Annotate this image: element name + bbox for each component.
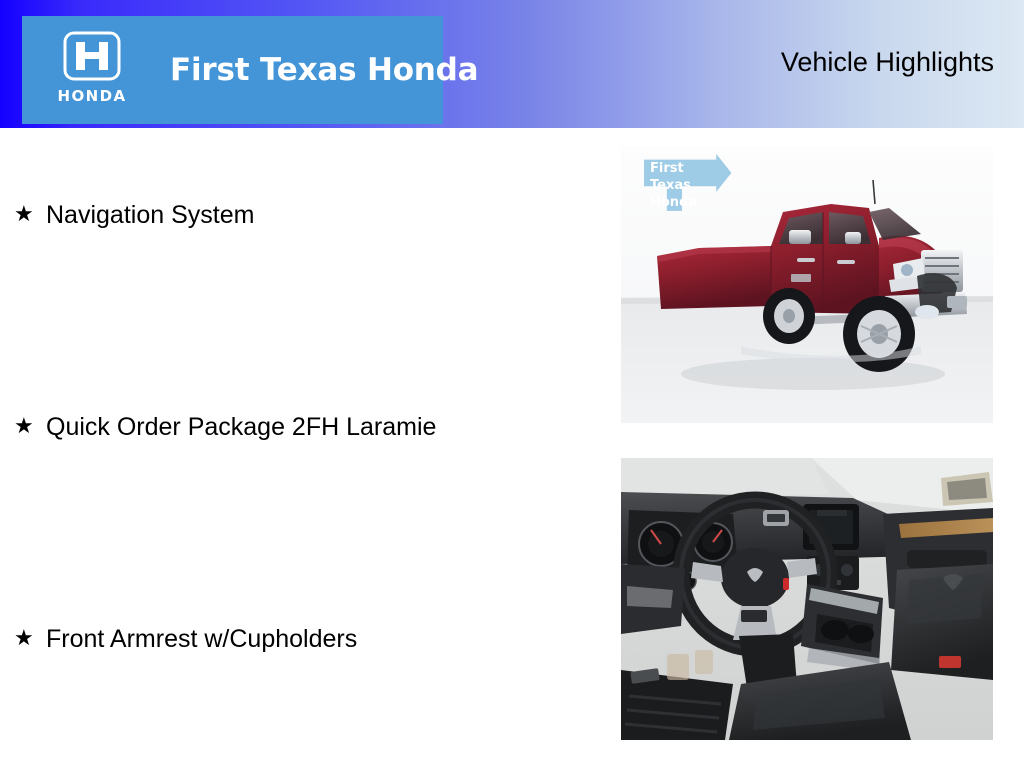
list-item: ★ Front Armrest w/Cupholders	[14, 620, 594, 768]
vehicle-interior-photo[interactable]	[621, 458, 993, 740]
highlight-label: Quick Order Package 2FH Laramie	[46, 408, 436, 446]
list-item: ★ Navigation System	[14, 196, 594, 408]
svg-text:HONDA: HONDA	[58, 87, 127, 105]
honda-h-emblem-icon: HONDA	[50, 31, 134, 109]
svg-text:Texas: Texas	[650, 178, 691, 193]
dealer-name-text: First Texas Honda	[170, 52, 478, 88]
star-bullet-icon: ★	[14, 620, 46, 658]
highlight-label: Navigation System	[46, 196, 254, 234]
highlight-label: Front Armrest w/Cupholders	[46, 620, 357, 658]
svg-text:Honda: Honda	[650, 195, 697, 210]
header-banner: HONDA First Texas Honda Vehicle Highligh…	[0, 0, 1024, 128]
dealer-logo-block[interactable]: HONDA First Texas Honda	[22, 16, 443, 124]
page-title: Vehicle Highlights	[781, 47, 994, 78]
star-bullet-icon: ★	[14, 408, 46, 446]
star-bullet-icon: ★	[14, 196, 46, 234]
list-item: ★ Quick Order Package 2FH Laramie	[14, 408, 594, 620]
svg-text:First: First	[650, 161, 684, 176]
vehicle-highlights-slide: HONDA First Texas Honda Vehicle Highligh…	[0, 0, 1024, 768]
vehicle-exterior-photo[interactable]: First Texas Honda	[621, 146, 993, 423]
vehicle-highlights-list: ★ Navigation System ★ Quick Order Packag…	[14, 196, 594, 768]
